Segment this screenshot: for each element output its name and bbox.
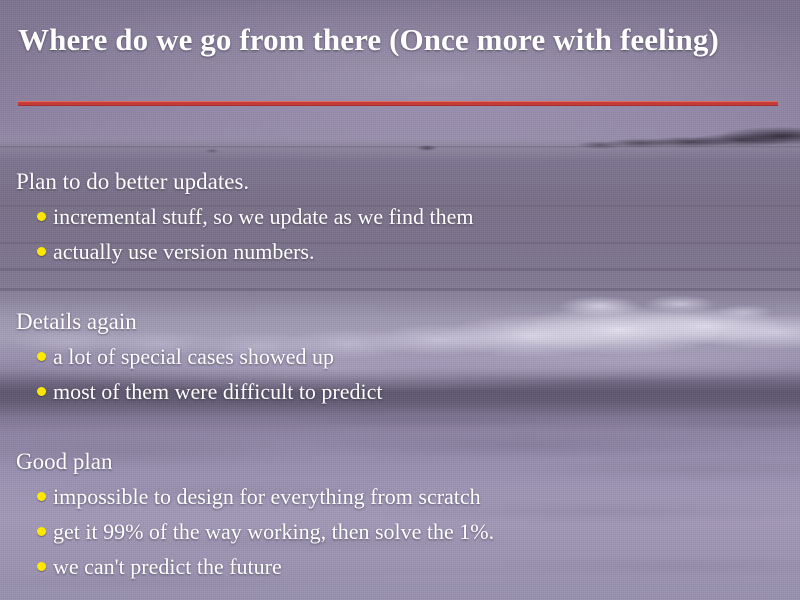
bullet-dot-icon [37,527,46,536]
list-item-label: impossible to design for everything from… [53,484,481,509]
group-heading: Good plan [0,444,800,479]
list-item-label: actually use version numbers. [53,239,315,264]
list-item: actually use version numbers. [0,234,800,269]
bullet-dot-icon [37,212,46,221]
group-spacer [0,409,800,444]
title-underline-rule [18,101,778,106]
list-item-label: a lot of special cases showed up [53,344,334,369]
list-item-label: get it 99% of the way working, then solv… [53,519,494,544]
list-item-label: most of them were difficult to predict [53,379,383,404]
list-item: incremental stuff, so we update as we fi… [0,199,800,234]
list-item: get it 99% of the way working, then solv… [0,514,800,549]
group-spacer [0,269,800,304]
group-heading: Plan to do better updates. [0,164,800,199]
group-heading: Details again [0,304,800,339]
presentation-slide: Where do we go from there (Once more wit… [0,0,800,600]
slide-body: Plan to do better updates. incremental s… [0,164,800,584]
slide-title: Where do we go from there (Once more wit… [18,22,772,58]
bullet-group-2: Details again a lot of special cases sho… [0,304,800,409]
list-item: impossible to design for everything from… [0,479,800,514]
bullet-dot-icon [37,247,46,256]
list-item: we can't predict the future [0,549,800,584]
bullet-dot-icon [37,387,46,396]
bullet-dot-icon [37,352,46,361]
list-item: a lot of special cases showed up [0,339,800,374]
bullet-dot-icon [37,492,46,501]
list-item-label: we can't predict the future [53,554,282,579]
slide-title-line-2: eling) [644,22,719,57]
slide-content: Where do we go from there (Once more wit… [0,0,800,600]
bullet-group-3: Good plan impossible to design for every… [0,444,800,584]
list-item-label: incremental stuff, so we update as we fi… [53,204,474,229]
bullet-group-1: Plan to do better updates. incremental s… [0,164,800,269]
list-item: most of them were difficult to predict [0,374,800,409]
bullet-dot-icon [37,562,46,571]
slide-title-line-1: Where do we go from there (Once more wit… [18,22,644,57]
